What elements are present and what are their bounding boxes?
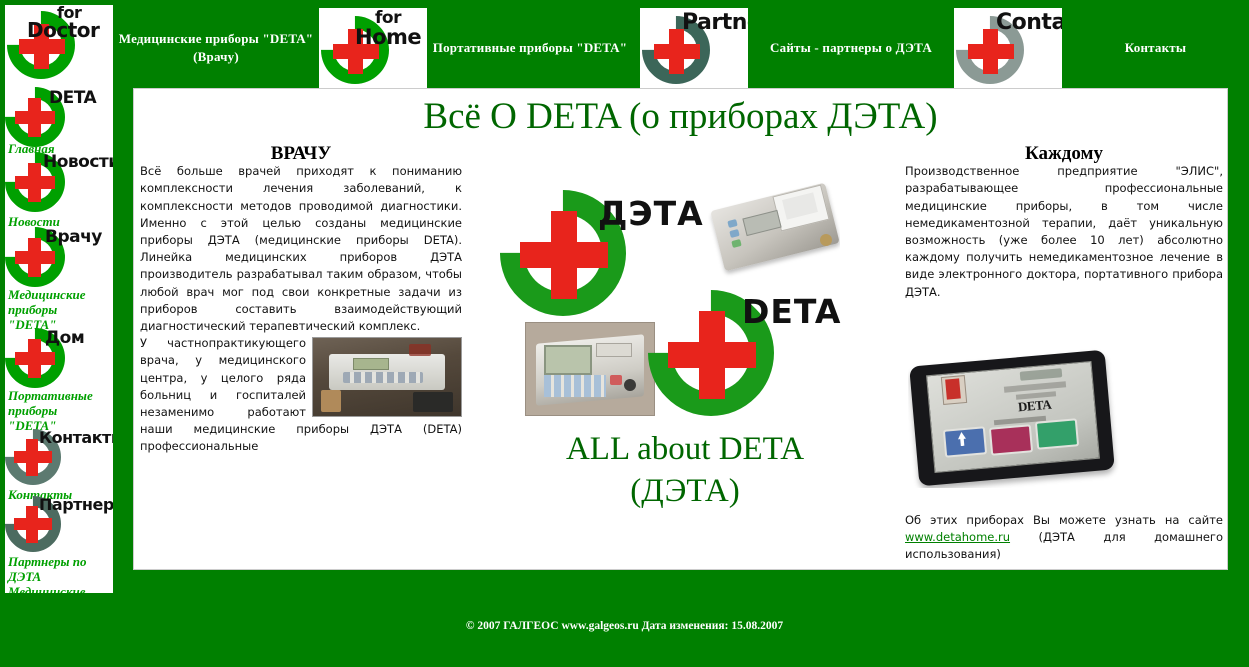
sidebar-logo-doctor[interactable]: for Doctor bbox=[5, 5, 113, 85]
sidebar-item-portable[interactable]: Портативные приборы "DETA" bbox=[5, 388, 113, 433]
right-column-paragraph-2-before: Об этих приборах Вы можете узнать на сай… bbox=[905, 513, 1223, 527]
deta-professional-device-photo bbox=[312, 337, 462, 417]
nav-item-partner[interactable]: Сайты - партнеры о ДЭТА bbox=[748, 8, 954, 88]
center-logo-word-deta-ru: ДЭТА bbox=[598, 194, 704, 233]
sidebar-item-med-devices[interactable]: Медицинские приборы "DETA" bbox=[5, 287, 113, 332]
sidebar-item-articles[interactable]: Медицинские статьи bbox=[5, 584, 113, 593]
right-column-paragraph-1: Производственное предприятие "ЭЛИС", раз… bbox=[905, 164, 1223, 298]
nav-item-home[interactable]: Портативные приборы "DETA" bbox=[427, 8, 633, 88]
sidebar-item-med-devices-l1: Медицинские bbox=[8, 287, 86, 302]
sidebar-logo-dom-word: Дом bbox=[45, 328, 84, 348]
sidebar-item-portable-l2: приборы bbox=[8, 403, 57, 418]
page-title: Всё О DETA (о приборах ДЭТА) bbox=[133, 95, 1228, 138]
right-column-heading: Каждому bbox=[905, 145, 1223, 162]
nav-logo-partner[interactable]: Partner bbox=[640, 8, 748, 88]
sidebar-logo-home[interactable]: Дом bbox=[5, 332, 113, 388]
nav-logo-contact[interactable]: Contact bbox=[954, 8, 1062, 88]
nav-logo-home[interactable]: for Home bbox=[319, 8, 427, 88]
sidebar-logo-doctor-section[interactable]: Врачу bbox=[5, 229, 113, 287]
sidebar-logo-contacts-word: Контакты bbox=[39, 428, 113, 447]
sidebar-logo-partners-word: Партнеры bbox=[39, 495, 113, 514]
sidebar-logo-vrachu-word: Врачу bbox=[45, 227, 102, 247]
center-caption-line-1: ALL about DETA bbox=[470, 428, 900, 470]
detahome-link[interactable]: www.detahome.ru bbox=[905, 530, 1010, 544]
deta-black-portable-device-photo: DETA bbox=[908, 348, 1120, 488]
sidebar-logo-deta-word: DETA bbox=[49, 88, 96, 108]
left-column-paragraph-1: Всё больше врачей приходят к пониманию к… bbox=[140, 164, 462, 333]
sidebar-logo-doctor-word-2: Doctor bbox=[27, 18, 99, 42]
sidebar-item-partners-l1: Партнеры по bbox=[8, 554, 87, 569]
sidebar-item-partners-l2: ДЭТА bbox=[8, 569, 41, 584]
left-column: ВРАЧУ Всё больше врачей приходят к поним… bbox=[140, 145, 462, 456]
center-caption-line-2: (ДЭТА) bbox=[470, 470, 900, 512]
nav-logo-home-word-2: Home bbox=[355, 25, 421, 49]
nav-item-doctor[interactable]: Медицинские приборы "DETA" (Врачу) bbox=[113, 8, 319, 88]
top-navigation: for Doctor Медицинские приборы "DETA" (В… bbox=[0, 0, 1249, 88]
sidebar-item-partners[interactable]: Партнеры по ДЭТА bbox=[5, 554, 113, 584]
left-column-heading: ВРАЧУ bbox=[140, 145, 462, 162]
sidebar-logo-deta[interactable]: DETA bbox=[5, 85, 113, 141]
nav-logo-contact-word: Contact bbox=[996, 10, 1062, 35]
nav-item-contact[interactable]: Контакты bbox=[1062, 8, 1249, 88]
sidebar-logo-news-word: Новости bbox=[43, 152, 113, 172]
sidebar-item-portable-l1: Портативные bbox=[8, 388, 93, 403]
sidebar-logo-partners[interactable]: Партнеры bbox=[5, 502, 113, 554]
right-column: Каждому Производственное предприятие "ЭЛ… bbox=[905, 145, 1223, 301]
sidebar-logo-news[interactable]: Новости bbox=[5, 156, 113, 214]
center-caption: ALL about DETA (ДЭТА) bbox=[470, 428, 900, 512]
right-column-footer-text: Об этих приборах Вы можете узнать на сай… bbox=[905, 512, 1223, 564]
deta-handheld-device-photo bbox=[708, 178, 840, 278]
sidebar-item-articles-l1: Медицинские bbox=[8, 584, 86, 593]
sidebar-logo-contacts[interactable]: Контакты bbox=[5, 433, 113, 487]
sidebar-item-med-devices-l2: приборы bbox=[8, 302, 57, 317]
sidebar: for Doctor DETA Главная Новости Новости … bbox=[5, 5, 113, 593]
nav-logo-partner-word: Partner bbox=[682, 10, 748, 35]
deta-desktop-device-photo bbox=[525, 322, 655, 416]
center-logo-word-deta-en: DETA bbox=[742, 292, 841, 331]
footer-copyright: © 2007 ГАЛГЕОС www.galgeos.ru Дата измен… bbox=[0, 620, 1249, 632]
